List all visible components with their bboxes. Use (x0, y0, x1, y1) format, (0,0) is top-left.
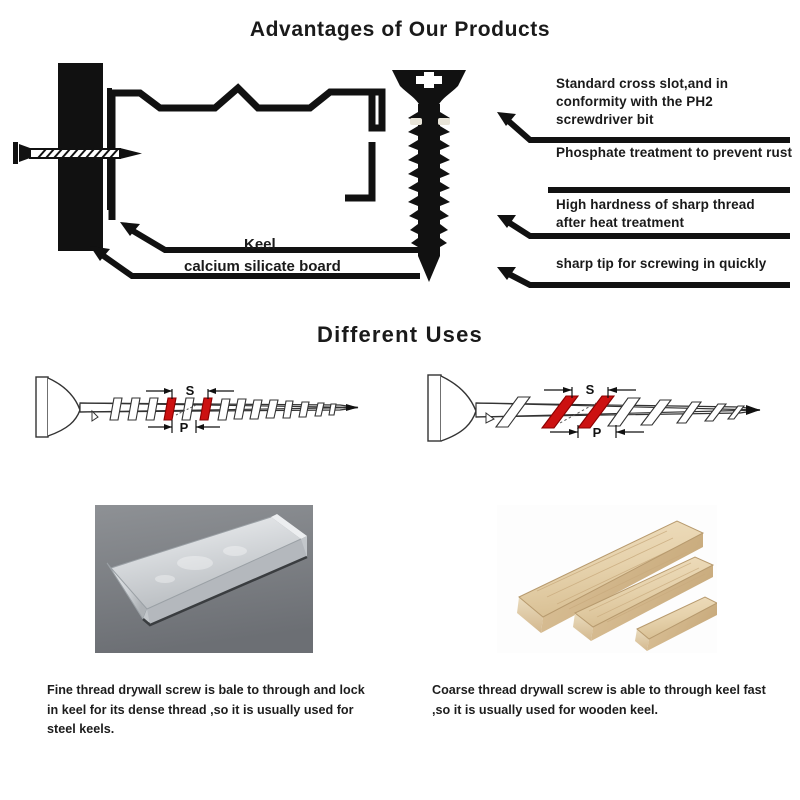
steel-keel-photo (95, 505, 313, 653)
advantages-panel: Keel calcium silicate board Standard cro… (0, 50, 800, 300)
label-keel: Keel (244, 236, 276, 253)
fine-thread-screw-diagram: S P (28, 365, 378, 475)
annotation-cross-slot: Standard cross slot,and in conformity wi… (556, 75, 792, 128)
wooden-keel-photo (497, 505, 717, 653)
annotation-sharp-tip: sharp tip for screwing in quickly (556, 255, 792, 273)
label-calcium-silicate-board: calcium silicate board (184, 258, 341, 275)
dimension-label-p: P (180, 420, 189, 435)
dimension-label-s: S (186, 383, 195, 398)
annotation-phosphate-treatment: Phosphate treatment to prevent rust (556, 144, 796, 162)
thread-highlight-red (164, 398, 176, 420)
caption-fine-thread: Fine thread drywall screw is bale to thr… (47, 681, 377, 740)
different-uses-section-title: Different Uses (0, 322, 800, 348)
thread-highlight-red (200, 398, 212, 420)
dimension-label-s: S (586, 382, 595, 397)
caption-coarse-thread: Coarse thread drywall screw is able to t… (432, 681, 772, 720)
coarse-thread-screw-diagram: S P (420, 365, 780, 475)
product-advantages-infographic: Advantages of Our Products (0, 0, 800, 800)
different-uses-panel: S P (0, 365, 800, 495)
annotation-hardness: High hardness of sharp thread after heat… (556, 196, 786, 232)
dimension-label-p: P (593, 425, 602, 440)
advantages-section-title: Advantages of Our Products (0, 18, 800, 42)
